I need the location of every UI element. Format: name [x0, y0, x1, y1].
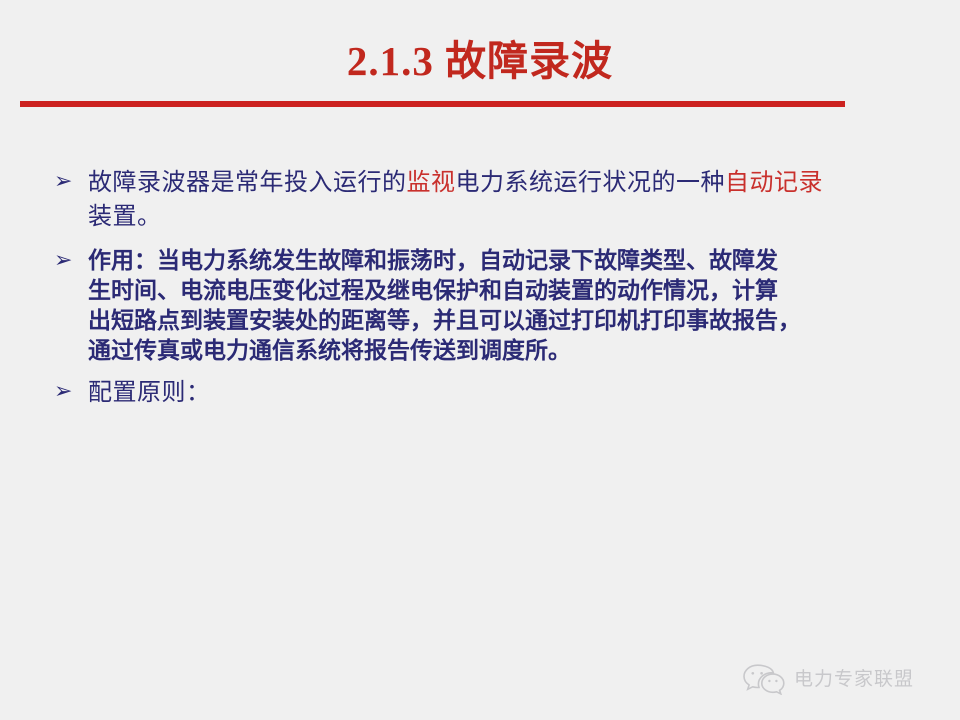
- bullet-item-1-line-2: 装置。: [88, 200, 920, 234]
- bullet-item-2-line-4: 通过传真或电力通信系统将报告传送到调度所。: [88, 336, 920, 366]
- bullet-item-2-line-3: 出短路点到装置安装处的距离等，并且可以通过打印机打印事故报告，: [88, 306, 920, 336]
- page-title: 2.1.3 故障录波: [347, 36, 613, 86]
- bullet-item-1: ➢ 故障录波器是常年投入运行的监视电力系统运行状况的一种自动记录 装置。: [52, 166, 920, 234]
- watermark-label: 电力专家联盟: [794, 668, 914, 690]
- slide-body: ➢ 故障录波器是常年投入运行的监视电力系统运行状况的一种自动记录 装置。 ➢ 作…: [52, 166, 920, 414]
- bullet-arrow-icon: ➢: [52, 166, 88, 198]
- footer-watermark: 电力专家联盟: [742, 663, 914, 695]
- bullet-1-seg-2-highlight: 监视: [407, 170, 456, 196]
- bullet-item-2-text: 作用：当电力系统发生故障和振荡时，自动记录下故障类型、故障发 生时间、电流电压变…: [88, 246, 920, 366]
- bullet-arrow-icon: ➢: [52, 246, 88, 276]
- bullet-item-3-text: 配置原则：: [88, 376, 920, 410]
- title-block: 2.1.3 故障录波: [0, 36, 960, 86]
- bullet-1-seg-1: 故障录波器是常年投入运行的: [88, 170, 407, 196]
- title-divider-rule: [20, 101, 845, 107]
- bullet-1-seg-4-highlight: 自动记录: [725, 170, 823, 196]
- bullet-item-2-line-2: 生时间、电流电压变化过程及继电保护和自动装置的动作情况，计算: [88, 276, 920, 306]
- wechat-icon: [742, 663, 786, 695]
- bullet-item-1-text: 故障录波器是常年投入运行的监视电力系统运行状况的一种自动记录 装置。: [88, 166, 920, 234]
- bullet-item-2-line-1: 作用：当电力系统发生故障和振荡时，自动记录下故障类型、故障发: [88, 246, 920, 276]
- bullet-arrow-icon: ➢: [52, 376, 88, 408]
- bullet-item-1-line-1: 故障录波器是常年投入运行的监视电力系统运行状况的一种自动记录: [88, 166, 920, 200]
- slide-canvas: 2.1.3 故障录波 ➢ 故障录波器是常年投入运行的监视电力系统运行状况的一种自…: [0, 0, 960, 720]
- bullet-item-3-line-1: 配置原则：: [88, 376, 920, 410]
- bullet-item-2: ➢ 作用：当电力系统发生故障和振荡时，自动记录下故障类型、故障发 生时间、电流电…: [52, 246, 920, 366]
- bullet-item-3: ➢ 配置原则：: [52, 376, 920, 410]
- bullet-1-seg-3: 电力系统运行状况的一种: [456, 170, 726, 196]
